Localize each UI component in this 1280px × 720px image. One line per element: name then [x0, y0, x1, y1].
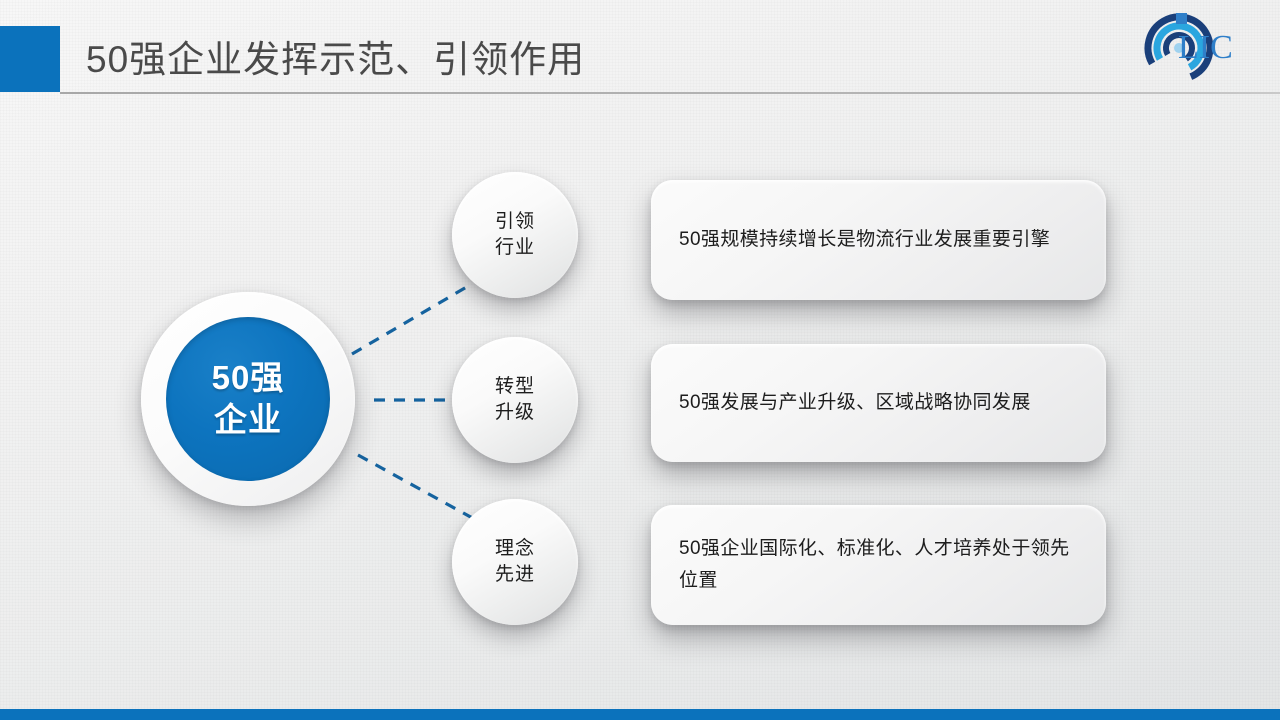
slide-canvas: 50强企业发挥示范、引领作用 LIC 50强 [0, 0, 1280, 720]
central-node-line-2: 企业 [214, 399, 282, 441]
slide-header: 50强企业发挥示范、引领作用 [0, 0, 1280, 100]
central-node-disc: 50强 企业 [166, 317, 330, 481]
diagram-body: 50强 企业 引领 行业 转型 升级 理念 先进 50强规模持续增长是物流行业发… [0, 0, 1280, 720]
node-2-line-1: 转型 [495, 374, 535, 400]
box-transform-upgrade[interactable]: 50强发展与产业升级、区域战略协同发展 [651, 344, 1106, 462]
node-1-line-2: 行业 [495, 235, 535, 261]
node-lead-industry[interactable]: 引领 行业 [452, 172, 578, 298]
node-transform-upgrade[interactable]: 转型 升级 [452, 337, 578, 463]
box-3-text: 50强企业国际化、标准化、人才培养处于领先位置 [651, 533, 1106, 597]
node-1-line-1: 引领 [495, 209, 535, 235]
node-3-line-1: 理念 [495, 536, 535, 562]
header-divider [60, 92, 1280, 94]
page-title: 50强企业发挥示范、引领作用 [86, 35, 585, 85]
box-2-text: 50强发展与产业升级、区域战略协同发展 [651, 387, 1059, 419]
box-lead-industry[interactable]: 50强规模持续增长是物流行业发展重要引擎 [651, 180, 1106, 300]
node-3-line-2: 先进 [495, 562, 535, 588]
central-node-line-1: 50强 [212, 357, 285, 399]
node-2-line-2: 升级 [495, 400, 535, 426]
header-accent-block [0, 26, 60, 92]
node-advanced-concept[interactable]: 理念 先进 [452, 499, 578, 625]
footer-accent-bar [0, 709, 1280, 720]
central-node[interactable]: 50强 企业 [141, 292, 355, 506]
box-1-text: 50强规模持续增长是物流行业发展重要引擎 [651, 224, 1078, 256]
box-advanced-concept[interactable]: 50强企业国际化、标准化、人才培养处于领先位置 [651, 505, 1106, 625]
